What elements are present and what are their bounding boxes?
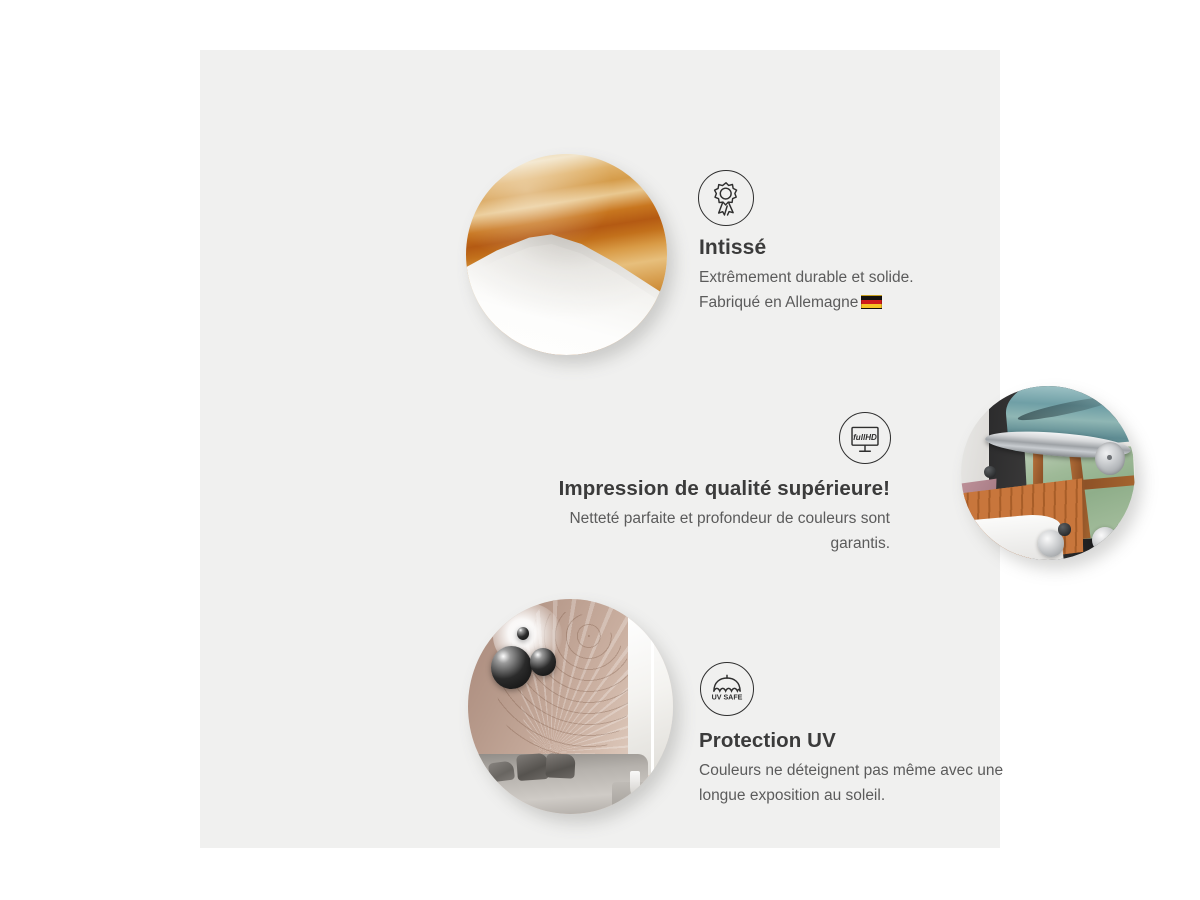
feature-description-line: Fabriqué en Allemagne <box>699 290 914 315</box>
content-panel: Intissé Extrêmement durable et solide. F… <box>200 50 1000 848</box>
photo-layer-room <box>468 599 673 814</box>
product-feature-infographic: Intissé Extrêmement durable et solide. F… <box>0 0 1200 900</box>
fullhd-monitor-icon: fullHD <box>839 412 891 464</box>
interior-geometric-wallpaper-photo <box>468 599 673 814</box>
feature-description-line: Couleurs ne déteignent pas même avec une <box>699 758 1003 783</box>
uv-safe-label: UV SAFE <box>712 693 743 701</box>
feature-block-impression: Impression de qualité supérieure! Nettet… <box>490 475 890 556</box>
feature-title: Intissé <box>699 235 914 261</box>
award-rosette-icon <box>698 170 754 226</box>
feature-block-intisse: Intissé Extrêmement durable et solide. F… <box>699 235 914 315</box>
feature-description-line: Extrêmement durable et solide. <box>699 265 914 290</box>
german-flag-icon <box>861 295 882 309</box>
printing-press-photo <box>961 386 1135 560</box>
feature-description: Netteté parfaite et profondeur de couleu… <box>490 506 890 556</box>
photo-layer-window <box>628 612 673 775</box>
feature-title: Protection UV <box>699 727 1003 754</box>
feature-description-line: Netteté parfaite et profondeur de couleu… <box>490 506 890 531</box>
fullhd-label: fullHD <box>853 433 877 442</box>
photo-layer-amber-print <box>466 154 667 355</box>
nonwoven-wallpaper-roll-photo <box>466 154 667 355</box>
photo-layer-press <box>961 386 1135 560</box>
feature-title: Impression de qualité supérieure! <box>490 475 890 503</box>
feature-block-protection-uv: Protection UV Couleurs ne déteignent pas… <box>699 727 1003 808</box>
feature-description-line: longue exposition au soleil. <box>699 783 1003 808</box>
uv-safe-umbrella-icon: UV SAFE <box>700 662 754 716</box>
feature-description: Extrêmement durable et solide. Fabriqué … <box>699 265 914 315</box>
feature-description-line: garantis. <box>490 531 890 556</box>
feature-description: Couleurs ne déteignent pas même avec une… <box>699 758 1003 808</box>
